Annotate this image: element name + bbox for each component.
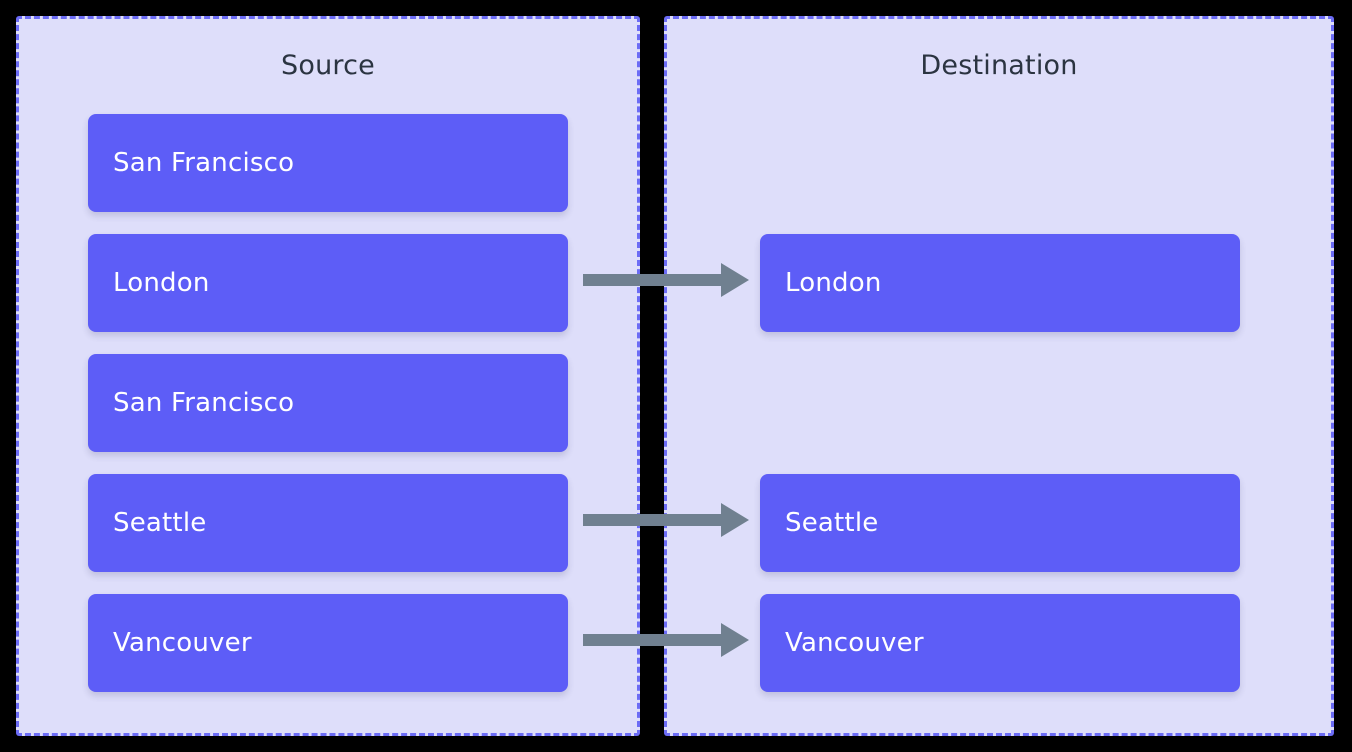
source-panel-title: Source xyxy=(19,49,637,83)
source-card-seattle[interactable]: Seattle xyxy=(88,474,568,572)
destination-panel: Destination London Seattle Vancouver xyxy=(664,16,1334,736)
source-panel: Source San Francisco London San Francisc… xyxy=(16,16,640,736)
source-card-london[interactable]: London xyxy=(88,234,568,332)
card-label: San Francisco xyxy=(88,388,294,418)
card-label: San Francisco xyxy=(88,148,294,178)
card-label: Seattle xyxy=(760,508,878,538)
card-label: London xyxy=(88,268,210,298)
destination-card-seattle[interactable]: Seattle xyxy=(760,474,1240,572)
source-card-san-francisco-1[interactable]: San Francisco xyxy=(88,114,568,212)
source-card-vancouver[interactable]: Vancouver xyxy=(88,594,568,692)
card-label: Vancouver xyxy=(88,628,252,658)
card-label: Vancouver xyxy=(760,628,924,658)
destination-card-london[interactable]: London xyxy=(760,234,1240,332)
diagram-canvas: Source San Francisco London San Francisc… xyxy=(0,0,1352,752)
destination-panel-title: Destination xyxy=(667,49,1331,83)
source-card-san-francisco-2[interactable]: San Francisco xyxy=(88,354,568,452)
card-label: London xyxy=(760,268,882,298)
destination-card-vancouver[interactable]: Vancouver xyxy=(760,594,1240,692)
card-label: Seattle xyxy=(88,508,206,538)
